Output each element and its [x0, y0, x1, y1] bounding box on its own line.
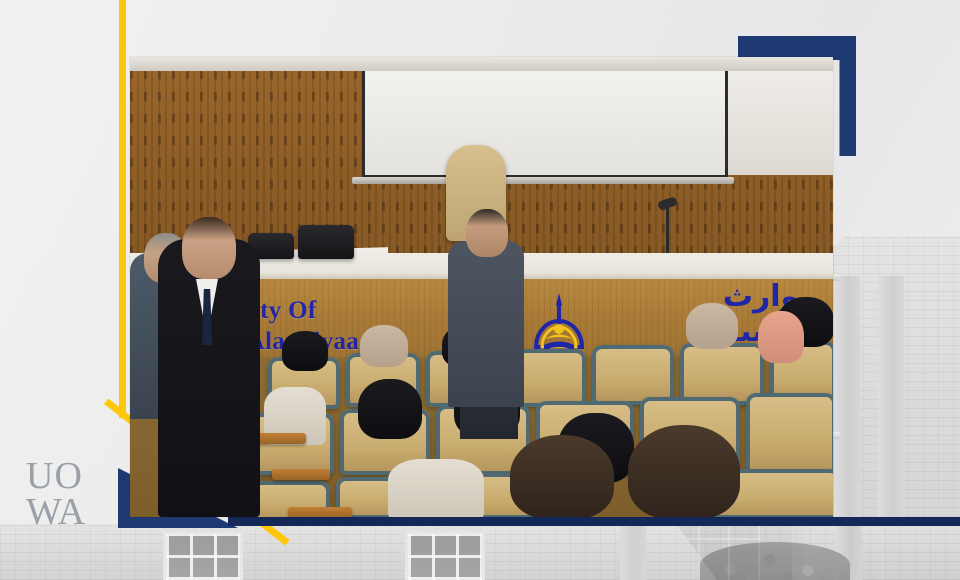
- seat-writing-arm: [272, 469, 330, 480]
- seat-writing-arm: [256, 433, 306, 444]
- lecture-hall-photo: iversity Of rith Alanbiyaa وارث الأنبياء: [130, 57, 833, 517]
- attendee: [388, 459, 484, 517]
- uowa-wordmark: UO WA: [26, 458, 118, 532]
- seat-writing-arm: [288, 507, 352, 517]
- uowa-wordmark-line1: UO: [26, 458, 118, 494]
- bag: [298, 225, 354, 259]
- yellow-accent-stripe-vertical: [119, 0, 126, 418]
- attendee: [358, 379, 422, 439]
- attendee: [360, 325, 408, 367]
- attendee: [282, 331, 328, 371]
- attendee: [686, 303, 738, 349]
- building-pilaster: [620, 524, 646, 580]
- campus-building-facade: [0, 524, 960, 580]
- projection-screen-rail: [352, 177, 734, 184]
- microphone-stand: [666, 207, 669, 253]
- hall-ceiling-strip: [130, 57, 833, 71]
- attendee: [628, 425, 740, 517]
- navy-baseline-bar: [228, 517, 960, 526]
- walking-official-head: [466, 209, 508, 257]
- projection-screen: [362, 71, 728, 178]
- building-shrub: [700, 542, 850, 580]
- uowa-wordmark-line2: WA: [26, 494, 118, 530]
- attendee: [758, 311, 804, 363]
- poster-canvas: iversity Of rith Alanbiyaa وارث الأنبياء: [0, 0, 960, 580]
- hall-wall-light-panel: [722, 71, 833, 175]
- building-window: [166, 534, 240, 580]
- attendee: [510, 435, 614, 517]
- auditorium-seat: [746, 393, 833, 475]
- foreground-official-head: [182, 217, 236, 279]
- building-window: [408, 534, 482, 580]
- walking-official-body: [448, 241, 524, 407]
- auditorium-seat: [592, 345, 674, 405]
